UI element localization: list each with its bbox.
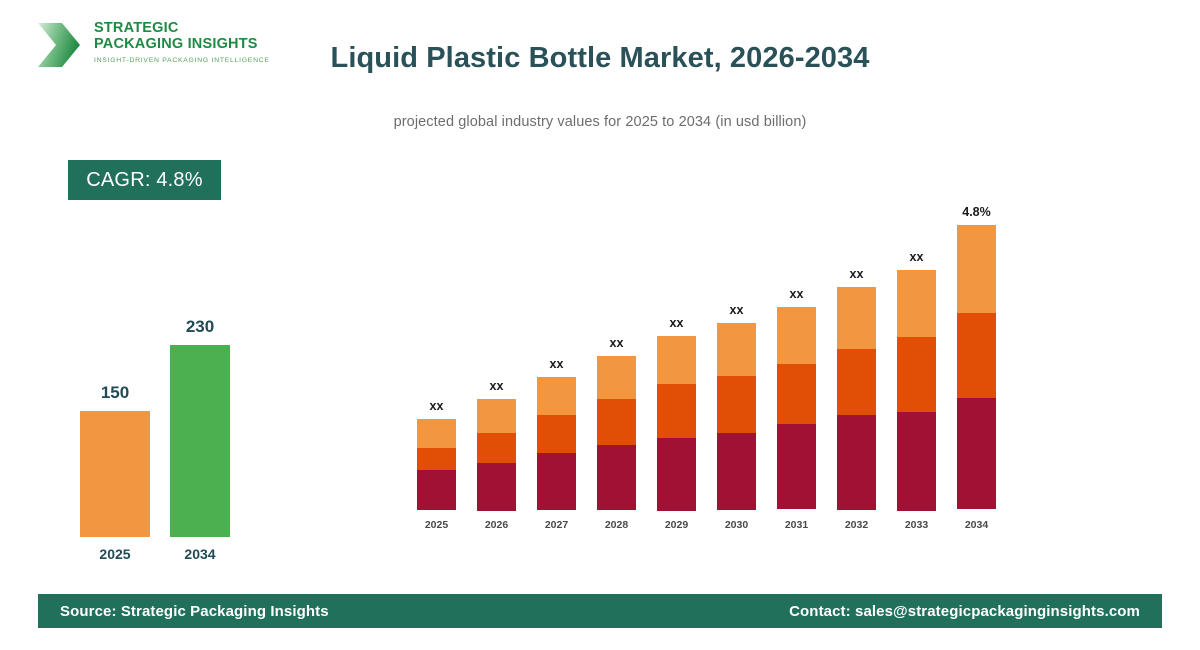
stacked-bar-2028 [597, 356, 636, 510]
stack-segment-segment-2-2033 [897, 337, 936, 412]
footer-bar: Source: Strategic Packaging Insights Con… [38, 594, 1162, 628]
stack-segment-segment-2-2034 [957, 313, 996, 398]
stack-segment-segment-2-2027 [537, 415, 576, 453]
stack-segment-segment-2-2026 [477, 433, 516, 463]
page-title: Liquid Plastic Bottle Market, 2026-2034 [0, 42, 1200, 75]
stack-top-label-2030: xx [717, 303, 756, 317]
footer-contact: Contact: sales@strategicpackaginginsight… [789, 603, 1140, 620]
stack-segment-segment-3-2031 [777, 307, 816, 364]
stacked-bar-2026 [477, 399, 516, 510]
stack-segment-segment-1-2033 [897, 412, 936, 511]
stack-year-label-2030: 2030 [717, 519, 756, 531]
stacked-bar-2032 [837, 287, 876, 510]
stacked-bar-2034 [957, 225, 996, 510]
stacked-bar-2033 [897, 270, 936, 510]
stack-group-2027: xx2027 [537, 377, 576, 535]
stacked-bar-2030 [717, 323, 756, 510]
stack-top-label-2025: xx [417, 399, 456, 413]
stack-year-label-2027: 2027 [537, 519, 576, 531]
stack-segment-segment-3-2033 [897, 270, 936, 337]
stack-segment-segment-2-2025 [417, 448, 456, 470]
comparison-bar-2034 [170, 345, 230, 537]
stack-segment-segment-1-2029 [657, 438, 696, 511]
stack-segment-segment-3-2032 [837, 287, 876, 349]
stack-segment-segment-2-2030 [717, 376, 756, 433]
footer-source: Source: Strategic Packaging Insights [60, 603, 329, 620]
stack-year-label-2033: 2033 [897, 519, 936, 531]
stack-group-2034: 4.8%2034 [957, 225, 996, 535]
stacked-bar-2029 [657, 336, 696, 510]
stack-year-label-2025: 2025 [417, 519, 456, 531]
stack-top-label-2026: xx [477, 379, 516, 393]
stack-segment-segment-1-2032 [837, 415, 876, 510]
stack-year-label-2031: 2031 [777, 519, 816, 531]
stack-top-label-2028: xx [597, 336, 636, 350]
stack-group-2031: xx2031 [777, 307, 816, 535]
comparison-label-2025: 2025 [80, 546, 150, 562]
stack-group-2032: xx2032 [837, 287, 876, 535]
stack-segment-segment-3-2025 [417, 419, 456, 448]
stack-year-label-2026: 2026 [477, 519, 516, 531]
stack-segment-segment-2-2028 [597, 399, 636, 445]
stack-group-2030: xx2030 [717, 323, 756, 535]
stacked-bar-2027 [537, 377, 576, 510]
comparison-bar-2025 [80, 411, 150, 537]
stack-segment-segment-2-2029 [657, 384, 696, 438]
stack-top-label-2029: xx [657, 316, 696, 330]
stack-segment-segment-1-2027 [537, 453, 576, 510]
comparison-value-2025: 150 [80, 383, 150, 403]
stacked-bar-2025 [417, 419, 456, 510]
stack-group-2033: xx2033 [897, 270, 936, 535]
stack-segment-segment-3-2030 [717, 323, 756, 376]
stack-segment-segment-3-2027 [537, 377, 576, 415]
stack-segment-segment-1-2028 [597, 445, 636, 510]
comparison-label-2034: 2034 [170, 546, 230, 562]
stack-top-label-2027: xx [537, 357, 576, 371]
stack-segment-segment-1-2034 [957, 398, 996, 509]
stack-group-2025: xx2025 [417, 419, 456, 535]
stacked-bar-2031 [777, 307, 816, 510]
stack-top-label-2033: xx [897, 250, 936, 264]
stack-segment-segment-3-2028 [597, 356, 636, 399]
stack-year-label-2032: 2032 [837, 519, 876, 531]
comparison-value-2034: 230 [170, 317, 230, 337]
stack-top-label-2031: xx [777, 287, 816, 301]
page-subtitle: projected global industry values for 202… [0, 114, 1200, 130]
stack-segment-segment-2-2032 [837, 349, 876, 415]
brand-line-1: STRATEGIC [94, 20, 264, 36]
stacked-bar-chart: xx2025xx2026xx2027xx2028xx2029xx2030xx20… [405, 200, 1015, 560]
infographic-canvas: STRATEGIC PACKAGING INSIGHTS INSIGHT-DRI… [0, 0, 1200, 650]
stack-group-2026: xx2026 [477, 399, 516, 535]
stack-group-2029: xx2029 [657, 336, 696, 535]
stack-segment-segment-1-2025 [417, 470, 456, 510]
stack-segment-segment-3-2029 [657, 336, 696, 384]
stack-segment-segment-3-2026 [477, 399, 516, 433]
stack-top-label-2034: 4.8% [957, 205, 996, 219]
stack-year-label-2029: 2029 [657, 519, 696, 531]
stack-year-label-2034: 2034 [957, 519, 996, 531]
cagr-badge: CAGR: 4.8% [68, 160, 221, 200]
stack-group-2028: xx2028 [597, 356, 636, 535]
stack-year-label-2028: 2028 [597, 519, 636, 531]
stack-segment-segment-1-2026 [477, 463, 516, 511]
stack-segment-segment-3-2034 [957, 225, 996, 313]
stack-segment-segment-1-2030 [717, 433, 756, 510]
comparison-bar-chart: 15020252302034 [60, 300, 260, 570]
stack-top-label-2032: xx [837, 267, 876, 281]
stack-segment-segment-1-2031 [777, 424, 816, 509]
stack-segment-segment-2-2031 [777, 364, 816, 424]
